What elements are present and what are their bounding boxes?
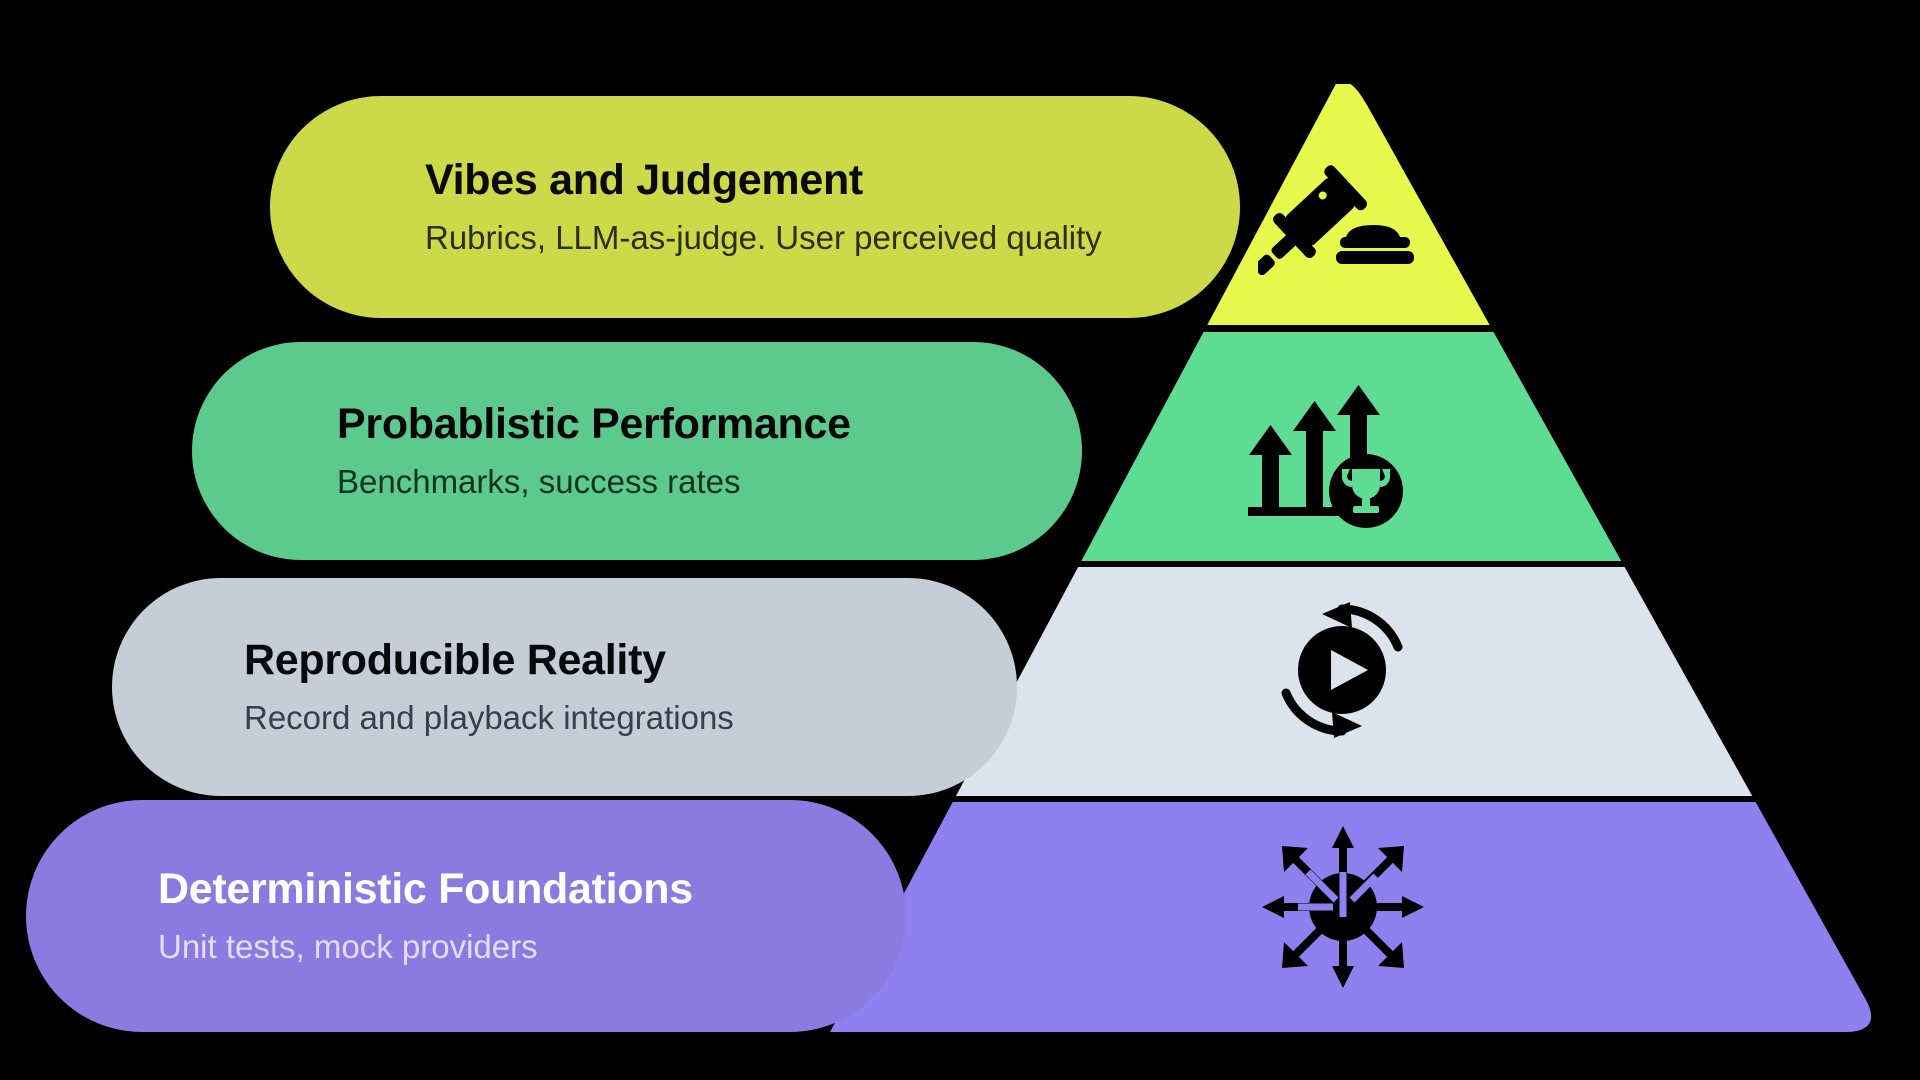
- tier-title: Reproducible Reality: [244, 638, 1017, 683]
- tier-card-vibes-and-judgement[interactable]: Vibes and Judgement Rubrics, LLM-as-judg…: [270, 96, 1240, 318]
- tier-card-deterministic-foundations[interactable]: Deterministic Foundations Unit tests, mo…: [26, 800, 906, 1032]
- radial-burst-icon: [1258, 822, 1428, 992]
- growth-arrows-trophy-icon: [1240, 385, 1420, 530]
- tier-subtitle: Rubrics, LLM-as-judge. User perceived qu…: [425, 220, 1240, 256]
- record-playback-icon: [1272, 600, 1412, 740]
- tier-subtitle: Benchmarks, success rates: [337, 464, 1082, 500]
- tier-card-reproducible-reality[interactable]: Reproducible Reality Record and playback…: [112, 578, 1017, 796]
- tier-subtitle: Unit tests, mock providers: [158, 929, 906, 965]
- pyramid-diagram-canvas: Vibes and Judgement Rubrics, LLM-as-judg…: [0, 0, 1920, 1080]
- gavel-icon: [1258, 155, 1418, 275]
- tier-title: Probablistic Performance: [337, 402, 1082, 447]
- tier-card-probablistic-performance[interactable]: Probablistic Performance Benchmarks, suc…: [192, 342, 1082, 560]
- tier-title: Deterministic Foundations: [158, 867, 906, 912]
- tier-subtitle: Record and playback integrations: [244, 700, 1017, 736]
- tier-title: Vibes and Judgement: [425, 158, 1240, 203]
